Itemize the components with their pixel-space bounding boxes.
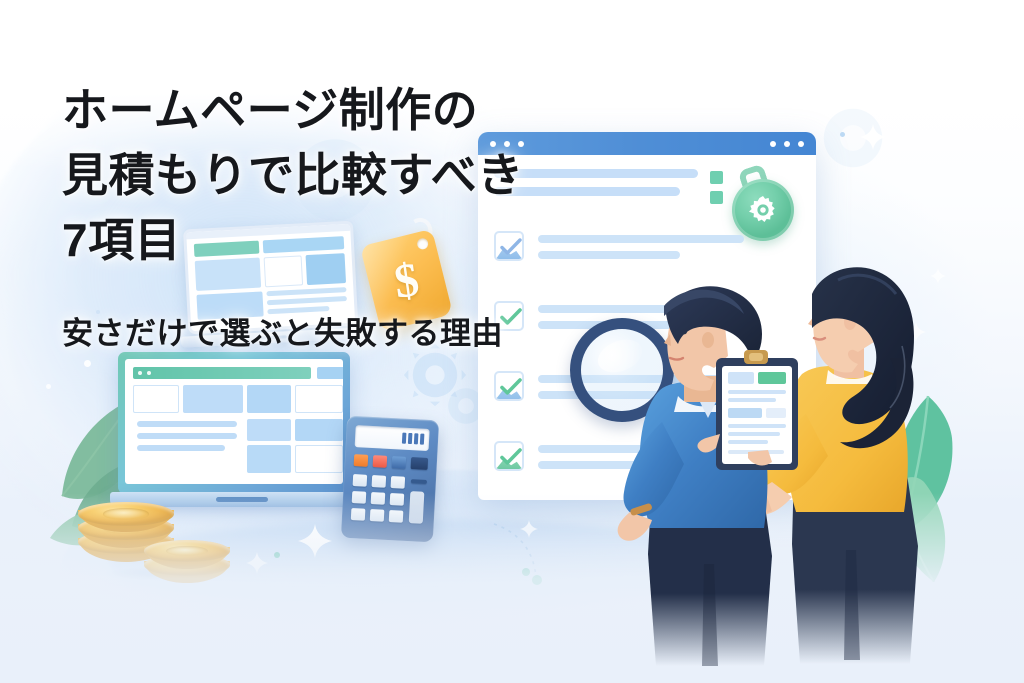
decorative-dot [46,384,51,389]
sparkle-icon [860,124,886,150]
man-with-magnifier [608,272,818,672]
decorative-dot [84,360,91,367]
page-subtitle: 安さだけで選ぶと失敗する理由 [62,312,503,356]
title-line-2: 見積もりで比較すべき [62,143,582,208]
title-line-1: ホームページ制作の [62,78,582,143]
checkbox-checked[interactable] [494,371,524,401]
banner-canvas: $ [0,0,1024,683]
accent-square [710,171,723,184]
checkbox-checked[interactable] [494,441,524,471]
page-title: ホームページ制作の 見積もりで比較すべき 7項目 [62,78,582,273]
decorative-dot [840,132,845,137]
title-line-3: 7項目 [62,208,582,273]
accent-square [710,191,723,204]
window-dots-right [770,141,804,147]
